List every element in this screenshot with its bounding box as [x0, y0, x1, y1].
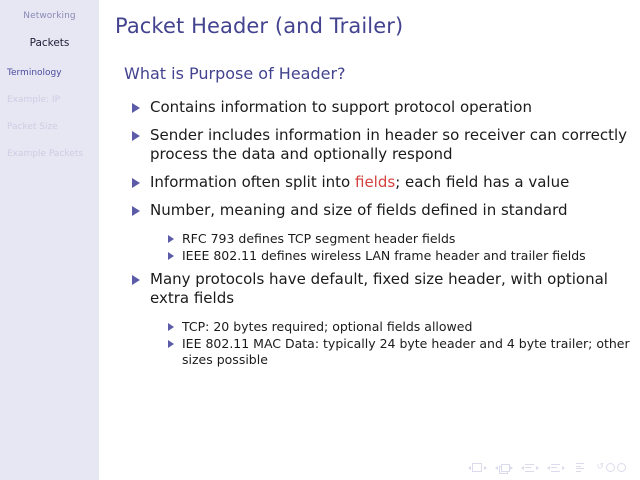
slide-title: Packet Header (and Trailer): [115, 14, 403, 38]
goto-circle-icon[interactable]: [617, 463, 626, 472]
slide-box-icon[interactable]: [472, 463, 482, 472]
prev-subsection-arrow-icon[interactable]: [521, 466, 524, 470]
sidebar-item-packet-size[interactable]: Packet Size: [7, 123, 99, 132]
triangle-bullet-icon: [168, 252, 174, 260]
triangle-bullet-icon: [132, 131, 140, 141]
next-subsection-arrow-icon[interactable]: [536, 466, 539, 470]
presentation-slide: Networking Packets Terminology Example: …: [0, 0, 640, 480]
section-lines-icon[interactable]: [551, 464, 560, 472]
beamer-navigation-bar[interactable]: ↺: [461, 463, 626, 472]
list-item: Number, meaning and size of fields defin…: [132, 201, 632, 220]
triangle-bullet-icon: [168, 340, 174, 348]
frame-stack-icon[interactable]: [499, 464, 508, 472]
list-item-text: Number, meaning and size of fields defin…: [150, 201, 568, 220]
search-circle-icon[interactable]: [606, 463, 615, 472]
back-and-search-nav-icon[interactable]: ↺: [596, 463, 626, 472]
list-item-text-after: ; each field has a value: [395, 173, 569, 191]
prev-frame-arrow-icon[interactable]: [495, 466, 498, 470]
list-item: Many protocols have default, fixed size …: [132, 270, 632, 308]
sidebar-item-example-packets[interactable]: Example Packets: [7, 150, 99, 159]
document-nav-icon[interactable]: [576, 463, 584, 472]
subsection-nav-icon[interactable]: [519, 464, 540, 472]
sub-list-item-text: RFC 793 defines TCP segment header field…: [182, 231, 455, 247]
list-item-text: Information often split into fields; eac…: [150, 173, 569, 192]
highlighted-term-fields: fields: [355, 173, 395, 191]
triangle-bullet-icon: [132, 103, 140, 113]
sidebar-item-example-ip[interactable]: Example: IP: [7, 96, 99, 105]
list-item: Contains information to support protocol…: [132, 98, 632, 117]
triangle-bullet-icon: [132, 275, 140, 285]
sidebar-nav: Terminology Example: IP Packet Size Exam…: [0, 69, 99, 159]
triangle-bullet-icon: [168, 235, 174, 243]
sub-list-item: TCP: 20 bytes required; optional fields …: [168, 319, 632, 335]
sub-list-item: RFC 793 defines TCP segment header field…: [168, 231, 632, 247]
triangle-bullet-icon: [132, 206, 140, 216]
list-item-text-before: Information often split into: [150, 173, 355, 191]
sub-list-item-text: TCP: 20 bytes required; optional fields …: [182, 319, 472, 335]
subsection-lines-icon[interactable]: [525, 464, 534, 472]
triangle-bullet-icon: [168, 323, 174, 331]
list-item: Sender includes information in header so…: [132, 126, 632, 164]
sub-list-item: IEE 802.11 MAC Data: typically 24 byte h…: [168, 336, 632, 368]
slide-subtitle: What is Purpose of Header?: [124, 64, 346, 83]
sub-list-item-text: IEE 802.11 MAC Data: typically 24 byte h…: [182, 336, 632, 368]
triangle-bullet-icon: [132, 178, 140, 188]
list-item: Information often split into fields; eac…: [132, 173, 632, 192]
sidebar-deck-title[interactable]: Networking: [0, 11, 99, 21]
sidebar-header: Networking Packets: [0, 0, 99, 49]
frame-nav-icon[interactable]: [493, 464, 514, 472]
sub-list-item: IEEE 802.11 defines wireless LAN frame h…: [168, 248, 632, 264]
section-nav-icon[interactable]: [545, 464, 566, 472]
prev-section-arrow-icon[interactable]: [547, 466, 550, 470]
list-item-text: Many protocols have default, fixed size …: [150, 270, 632, 308]
sidebar-section-title-packets[interactable]: Packets: [0, 37, 99, 49]
sub-list-item-text: IEEE 802.11 defines wireless LAN frame h…: [182, 248, 586, 264]
sidebar: Networking Packets Terminology Example: …: [0, 0, 99, 480]
slide-content: Packet Header (and Trailer) What is Purp…: [99, 0, 640, 480]
back-arrow-icon[interactable]: ↺: [596, 463, 604, 472]
list-item-text: Contains information to support protocol…: [150, 98, 532, 117]
prev-slide-arrow-icon[interactable]: [468, 466, 471, 470]
next-slide-arrow-icon[interactable]: [484, 466, 487, 470]
list-item-text: Sender includes information in header so…: [150, 126, 632, 164]
next-section-arrow-icon[interactable]: [562, 466, 565, 470]
sidebar-item-terminology[interactable]: Terminology: [7, 69, 99, 78]
slide-nav-icon[interactable]: [466, 463, 488, 472]
bullet-list: Contains information to support protocol…: [132, 98, 632, 369]
